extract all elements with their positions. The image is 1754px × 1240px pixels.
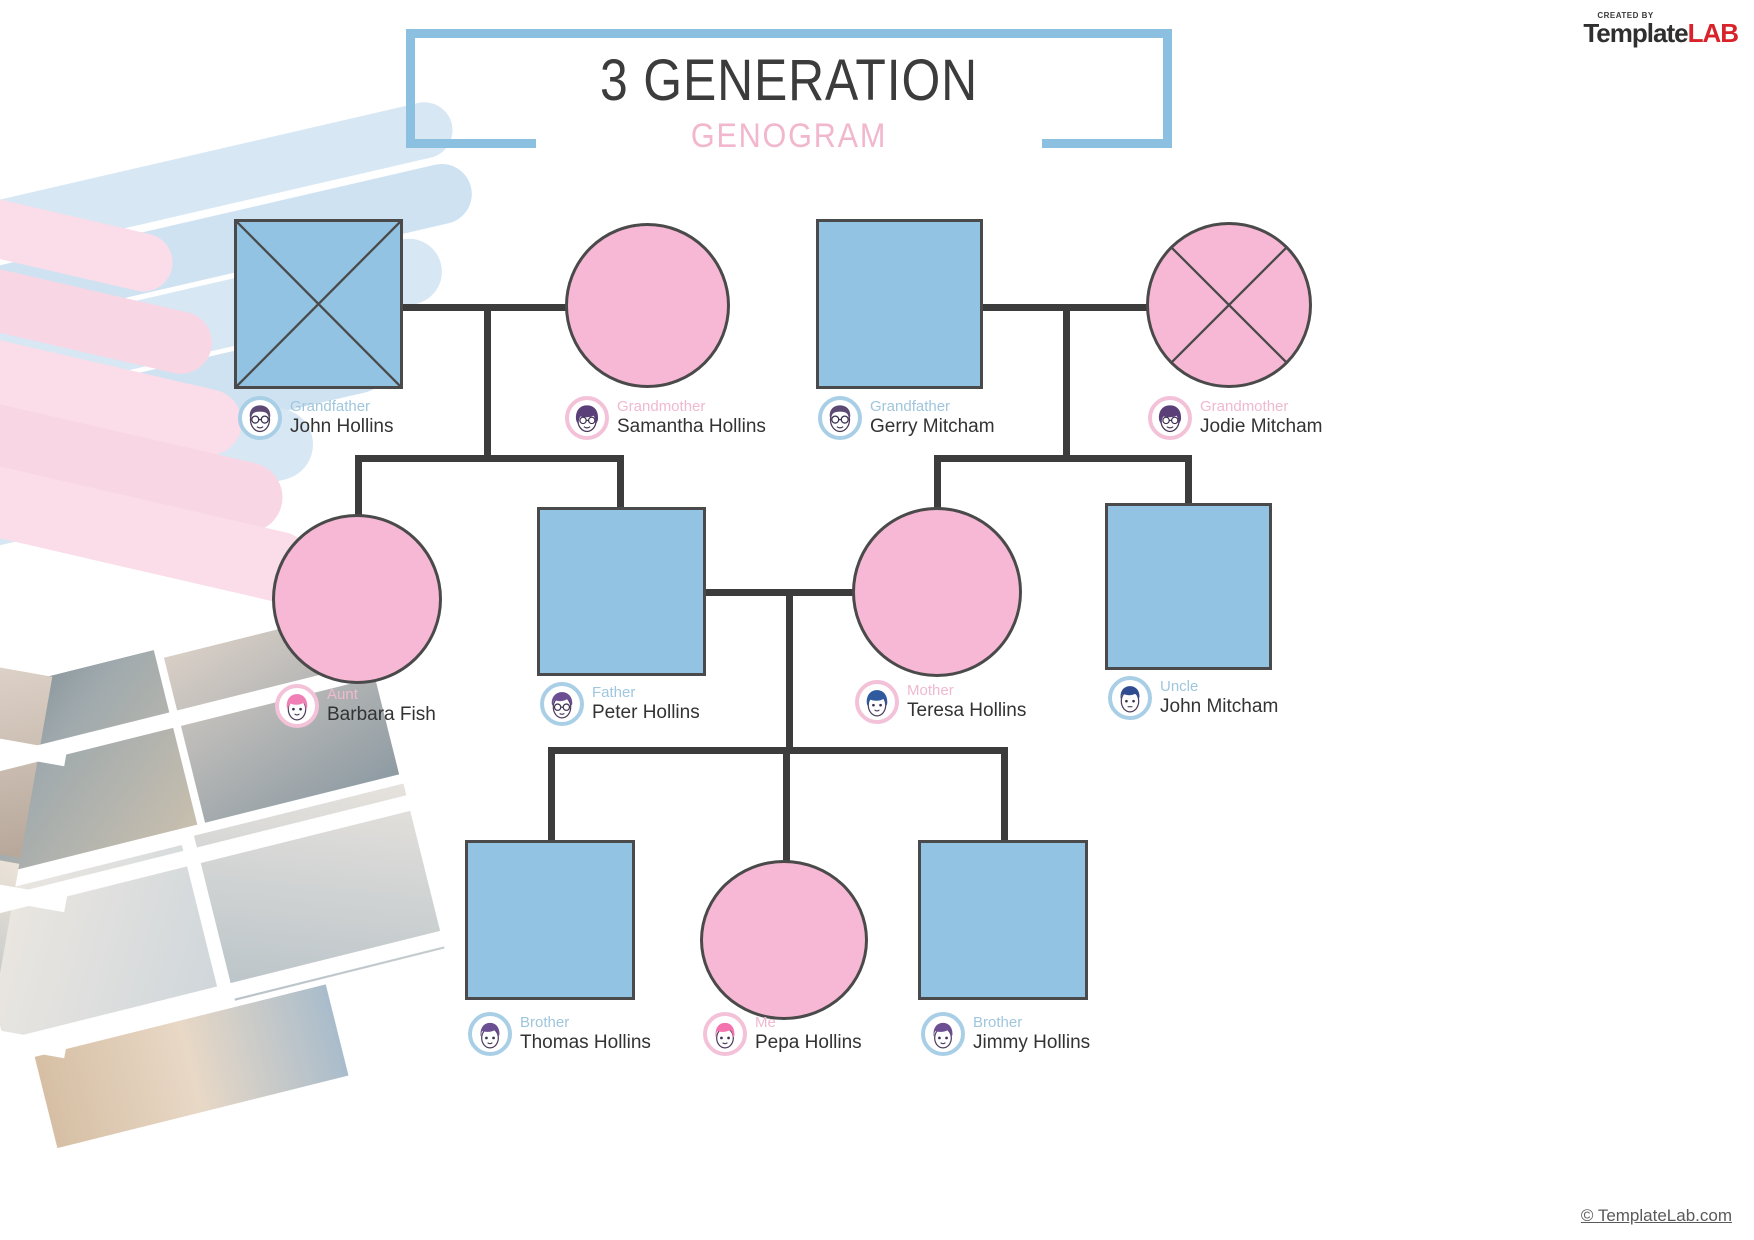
person-role: Grandfather — [870, 399, 995, 415]
connector-me-drop — [783, 747, 790, 863]
connector-thomas-drop — [548, 747, 555, 843]
templatelab-logo: CREATED BY TemplateLAB — [1583, 12, 1738, 46]
person-role: Grandfather — [290, 399, 394, 415]
person-role: Grandmother — [617, 399, 766, 415]
woman-blue-hair-avatar-icon — [855, 680, 899, 724]
logo-template-text: Template — [1583, 18, 1687, 48]
caption-aunt: Aunt Barbara Fish — [275, 684, 436, 728]
caption-text: Grandmother Jodie Mitcham — [1200, 399, 1323, 438]
connector-hollins-sibling-bar — [355, 455, 623, 462]
person-role: Uncle — [1160, 679, 1278, 695]
elderly-man-avatar-icon — [238, 396, 282, 440]
caption-brother-thomas: Brother Thomas Hollins — [468, 1012, 651, 1056]
person-name: Thomas Hollins — [520, 1033, 651, 1054]
node-father[interactable] — [537, 507, 706, 676]
person-role: Mother — [907, 683, 1026, 699]
person-role: Father — [592, 685, 700, 701]
caption-uncle: Uncle John Mitcham — [1108, 676, 1278, 720]
person-name: Pepa Hollins — [755, 1033, 862, 1054]
person-name: Samantha Hollins — [617, 417, 766, 438]
caption-text: Brother Thomas Hollins — [520, 1015, 651, 1054]
connector-aunt-drop — [355, 455, 362, 517]
person-role: Me — [755, 1015, 862, 1031]
person-name: Jodie Mitcham — [1200, 417, 1323, 438]
man-glasses-avatar-icon — [540, 682, 584, 726]
genogram-canvas: CREATED BY TemplateLAB 3 GENERATION GENO… — [0, 0, 1754, 1240]
person-role: Grandmother — [1200, 399, 1323, 415]
connector-mitcham-sibling-bar — [934, 455, 1192, 462]
person-role: Brother — [520, 1015, 651, 1031]
caption-text: Grandfather John Hollins — [290, 399, 394, 438]
connector-parents-drop — [786, 589, 793, 750]
caption-text: Mother Teresa Hollins — [907, 683, 1026, 722]
connector-jimmy-drop — [1001, 747, 1008, 843]
page-title-block: 3 GENERATION GENOGRAM — [406, 50, 1172, 156]
caption-grandmother-mitcham: Grandmother Jodie Mitcham — [1148, 396, 1323, 440]
node-grandmother-mitcham[interactable] — [1146, 222, 1312, 388]
caption-text: Father Peter Hollins — [592, 685, 700, 724]
title-frame-top-bar — [406, 29, 1172, 38]
caption-father: Father Peter Hollins — [540, 682, 700, 726]
person-role: Aunt — [327, 687, 436, 703]
node-me[interactable] — [700, 860, 868, 1020]
boy-avatar-icon — [468, 1012, 512, 1056]
photo-collage-right — [0, 590, 67, 1136]
deceased-cross-icon — [237, 222, 400, 386]
node-brother-jimmy[interactable] — [918, 840, 1088, 1000]
pink-swoosh-3 — [0, 240, 248, 462]
person-name: Teresa Hollins — [907, 701, 1026, 722]
person-role: Brother — [973, 1015, 1090, 1031]
caption-grandfather-hollins: Grandfather John Hollins — [238, 396, 394, 440]
footer-copyright[interactable]: © TemplateLab.com — [1581, 1206, 1732, 1226]
elderly-woman-avatar-icon — [1148, 396, 1192, 440]
person-name: Barbara Fish — [327, 705, 436, 726]
connector-father-drop — [617, 455, 624, 509]
caption-text: Brother Jimmy Hollins — [973, 1015, 1090, 1054]
connector-uncle-drop — [1185, 455, 1192, 509]
caption-mother: Mother Teresa Hollins — [855, 680, 1026, 724]
person-name: Peter Hollins — [592, 703, 700, 724]
connector-mitcham-drop — [1063, 304, 1070, 458]
person-name: John Mitcham — [1160, 697, 1278, 718]
page-title: 3 GENERATION — [460, 50, 1119, 112]
connector-hollins-drop — [484, 304, 491, 458]
node-grandmother-hollins[interactable] — [565, 223, 730, 388]
caption-me: Me Pepa Hollins — [703, 1012, 862, 1056]
node-uncle[interactable] — [1105, 503, 1272, 670]
elderly-man-avatar-icon — [818, 396, 862, 440]
girl-pink-hair-avatar-icon — [703, 1012, 747, 1056]
pink-swoosh-1 — [0, 97, 178, 297]
node-mother[interactable] — [852, 507, 1022, 677]
pink-swoosh-2 — [0, 162, 218, 380]
man-blue-hair-avatar-icon — [1108, 676, 1152, 720]
connector-children-sibling-bar — [548, 747, 1008, 754]
logo-wordmark: TemplateLAB — [1583, 18, 1738, 48]
page-subtitle: GENOGRAM — [444, 116, 1133, 156]
caption-grandmother-hollins: Grandmother Samantha Hollins — [565, 396, 766, 440]
elderly-woman-avatar-icon — [565, 396, 609, 440]
caption-text: Me Pepa Hollins — [755, 1015, 862, 1054]
person-name: John Hollins — [290, 417, 394, 438]
node-aunt[interactable] — [272, 514, 442, 684]
photo-collage-left — [0, 599, 469, 1157]
person-name: Gerry Mitcham — [870, 417, 995, 438]
caption-brother-jimmy: Brother Jimmy Hollins — [921, 1012, 1090, 1056]
deceased-cross-icon — [1149, 225, 1309, 385]
caption-text: Grandmother Samantha Hollins — [617, 399, 766, 438]
person-name: Jimmy Hollins — [973, 1033, 1090, 1054]
node-grandfather-mitcham[interactable] — [816, 219, 983, 389]
node-brother-thomas[interactable] — [465, 840, 635, 1000]
caption-grandfather-mitcham: Grandfather Gerry Mitcham — [818, 396, 995, 440]
node-grandfather-hollins[interactable] — [234, 219, 403, 389]
caption-text: Uncle John Mitcham — [1160, 679, 1278, 718]
caption-text: Aunt Barbara Fish — [327, 687, 436, 726]
connector-couple-parents — [703, 589, 856, 596]
boy-avatar-icon — [921, 1012, 965, 1056]
woman-pink-hair-avatar-icon — [275, 684, 319, 728]
caption-text: Grandfather Gerry Mitcham — [870, 399, 995, 438]
logo-lab-text: LAB — [1688, 18, 1738, 48]
